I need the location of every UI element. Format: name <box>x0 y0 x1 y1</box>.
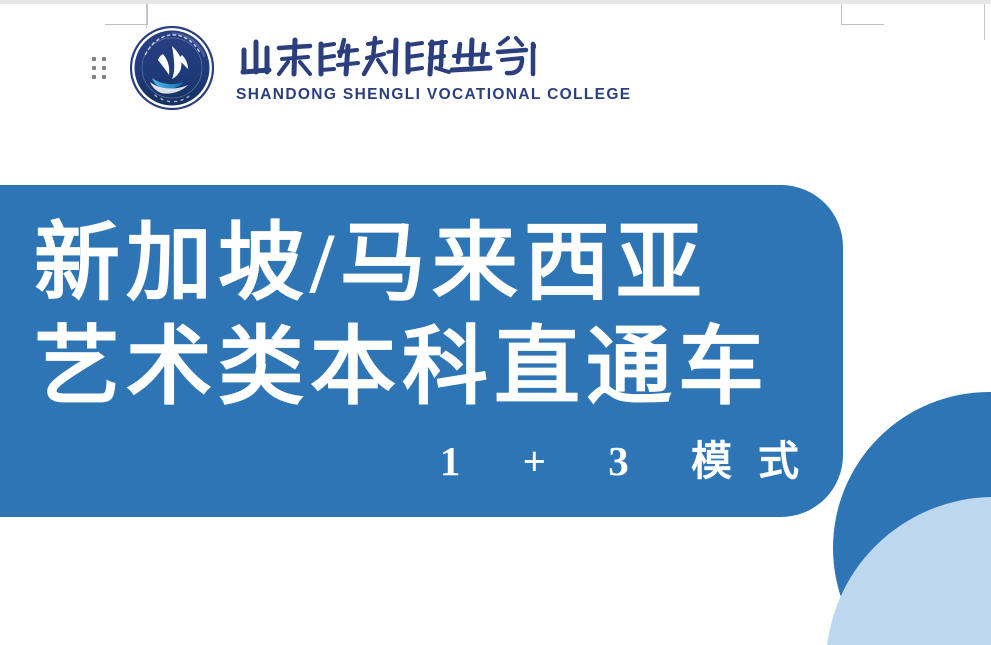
title-line-2: 艺术类本科直通车 <box>0 315 843 419</box>
drag-handle-icon[interactable] <box>90 27 108 109</box>
college-seal-icon <box>130 26 214 110</box>
brand-lockup[interactable]: SHANDONG SHENGLI VOCATIONAL COLLEGE <box>90 26 631 110</box>
college-name-en: SHANDONG SHENGLI VOCATIONAL COLLEGE <box>236 86 631 104</box>
college-name-cn-calligraphy <box>236 32 536 84</box>
subtitle-mode: 1 + 3 模式 <box>0 433 843 489</box>
vertical-guide-right <box>984 4 985 40</box>
title-line-1: 新加坡/马来西亚 <box>0 211 843 315</box>
brand-text-block: SHANDONG SHENGLI VOCATIONAL COLLEGE <box>236 32 631 104</box>
drag-handle-dots <box>92 57 106 79</box>
crop-mark-top-right <box>841 4 884 25</box>
slide-canvas: SHANDONG SHENGLI VOCATIONAL COLLEGE 新加坡/… <box>0 0 991 645</box>
crop-mark-top-left <box>105 4 148 25</box>
title-panel[interactable]: 新加坡/马来西亚 艺术类本科直通车 1 + 3 模式 <box>0 185 843 517</box>
